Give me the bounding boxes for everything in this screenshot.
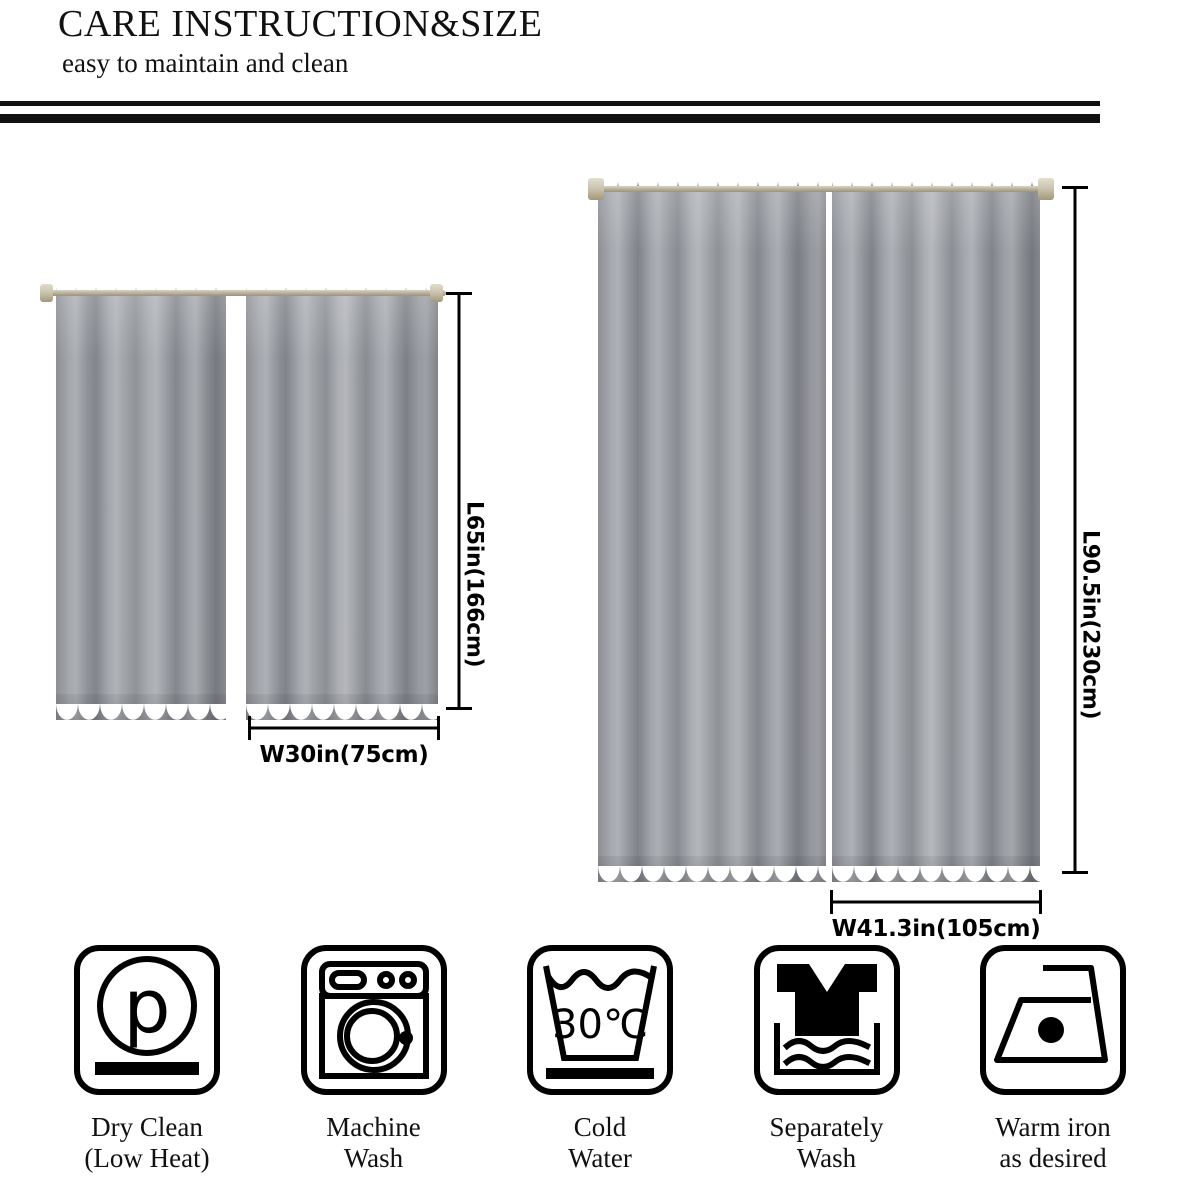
separately-wash-icon — [747, 940, 907, 1100]
care-label-machine-wash: Machine Wash — [326, 1112, 420, 1173]
long-curtain-length-dimension: L90.5in(230cm) — [1062, 186, 1088, 874]
curtain-panel-right — [246, 288, 438, 720]
dimension-cap-right — [437, 716, 440, 740]
care-item-warm-iron: Warm iron as desired — [960, 940, 1146, 1173]
care-label-separately-wash: Separately Wash — [770, 1112, 884, 1173]
dimension-line — [1074, 186, 1077, 874]
curtain-panel-right — [832, 182, 1040, 882]
care-symbols-row: p p Dry Clean (Low Heat) — [0, 940, 1200, 1173]
dimension-cap-bottom — [446, 707, 472, 710]
care-label-cold-water: Cold Water — [568, 1112, 632, 1173]
fabric-sheen — [598, 182, 826, 882]
dimension-line — [830, 901, 1042, 904]
dimension-cap-right — [1039, 890, 1042, 914]
short-curtain-diagram: L65in(166cm) W30in(75cm) — [0, 0, 540, 800]
curtain-panel-left — [598, 182, 826, 882]
hem-scallop — [832, 860, 1040, 882]
curtain-rod — [596, 186, 1048, 192]
dimension-line — [248, 727, 440, 730]
cold-water-30c-icon: 30℃ — [520, 940, 680, 1100]
curtain-panel-left — [56, 288, 226, 720]
care-item-machine-wash: Machine Wash — [281, 940, 467, 1173]
care-item-separately-wash: Separately Wash — [734, 940, 920, 1173]
curtain-rod-finial-right — [1038, 178, 1054, 200]
hem-scallop — [56, 698, 226, 720]
long-curtain-length-label: L90.5in(230cm) — [1078, 530, 1103, 719]
short-curtain-length-label: L65in(166cm) — [462, 501, 487, 667]
care-label-warm-iron: Warm iron as desired — [995, 1112, 1111, 1173]
long-curtain-diagram: L90.5in(230cm) W41.3in(105cm) — [540, 0, 1200, 960]
long-curtain-width-label: W41.3in(105cm) — [832, 916, 1041, 942]
hem-scallop — [598, 860, 826, 882]
short-curtain-width-label: W30in(75cm) — [260, 742, 429, 768]
curtain-rod-finial-left — [40, 284, 53, 302]
wash-temperature-text: 30℃ — [552, 1002, 648, 1048]
fabric-sheen — [832, 182, 1040, 882]
curtain-rod-finial-left — [588, 178, 604, 200]
machine-wash-icon — [294, 940, 454, 1100]
dimension-line — [458, 292, 461, 710]
care-label-dry-clean: Dry Clean (Low Heat) — [84, 1112, 209, 1173]
short-curtain-width-dimension: W30in(75cm) — [248, 716, 440, 740]
svg-text:p: p — [124, 964, 171, 1050]
long-curtain-width-dimension: W41.3in(105cm) — [830, 890, 1042, 914]
dry-clean-low-heat-icon: p — [67, 940, 227, 1100]
curtain-rod — [46, 290, 446, 296]
dimension-cap-bottom — [1062, 871, 1088, 874]
warm-iron-icon — [973, 940, 1133, 1100]
short-curtain-length-dimension: L65in(166cm) — [446, 292, 472, 710]
curtain-rod-finial-right — [430, 284, 443, 302]
care-item-cold-water: 30℃ 30℃ Cold Water — [507, 940, 693, 1173]
care-item-dry-clean: p p Dry Clean (Low Heat) — [54, 940, 240, 1173]
